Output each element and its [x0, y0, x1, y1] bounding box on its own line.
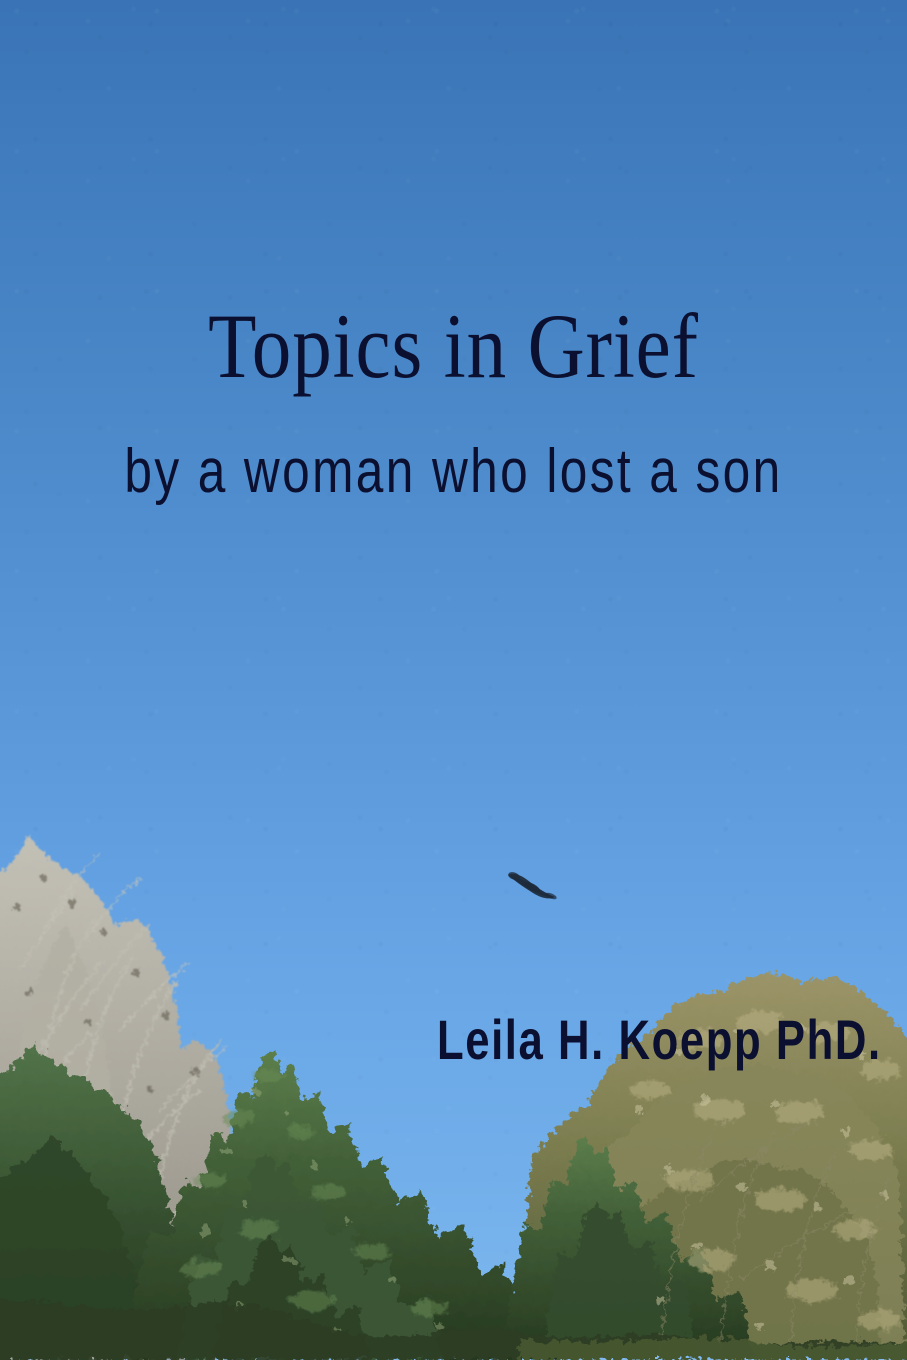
book-subtitle: by a woman who lost a son [91, 441, 817, 503]
book-cover: Topics in Grief by a woman who lost a so… [0, 0, 907, 1360]
book-author: Leila H. Koepp PhD. [437, 1012, 882, 1068]
book-title: Topics in Grief [63, 300, 843, 392]
